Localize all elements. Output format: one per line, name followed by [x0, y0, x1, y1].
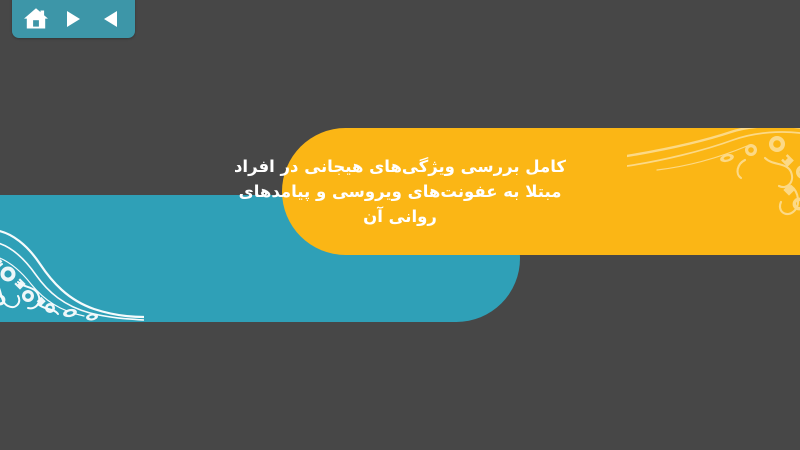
next-button[interactable]	[59, 6, 89, 32]
home-icon	[23, 7, 49, 31]
navigation-toolbar	[12, 0, 135, 38]
arabesque-ornament	[0, 212, 144, 322]
arabesque-ornament	[627, 128, 800, 246]
back-arrow-icon	[103, 10, 120, 28]
forward-arrow-icon	[66, 10, 81, 28]
previous-button[interactable]	[96, 6, 126, 32]
orange-banner	[282, 128, 800, 255]
home-button[interactable]	[21, 6, 51, 32]
presentation-slide: کامل بررسی ویژگی‌های هیجانی در افراد مبت…	[0, 0, 800, 450]
